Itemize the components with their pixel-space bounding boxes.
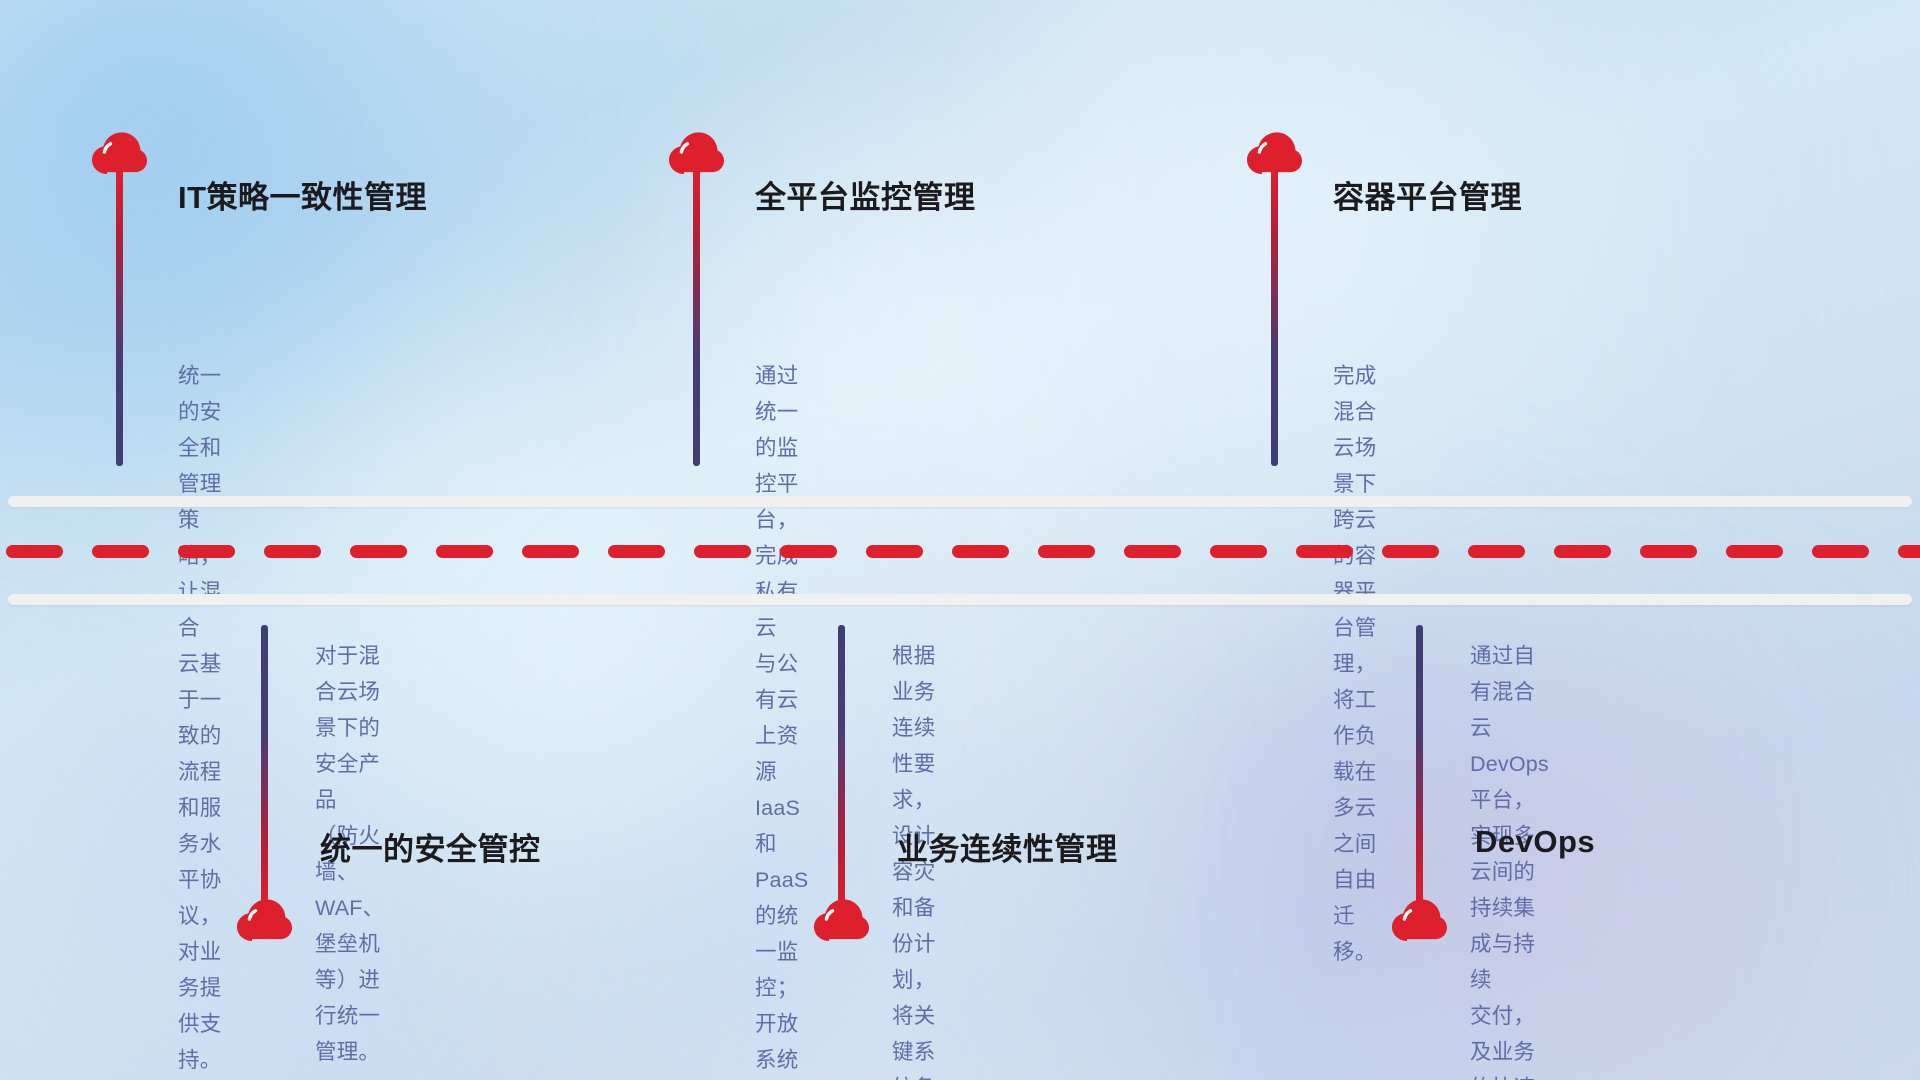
- column-title: 容器平台管理: [1333, 172, 1522, 217]
- divider-dash: [1812, 545, 1869, 558]
- divider-rail-bottom: [8, 594, 1912, 605]
- divider-dash: [1210, 545, 1267, 558]
- divider-dash: [522, 545, 579, 558]
- column-stem: [838, 625, 845, 908]
- divider-dash: [264, 545, 321, 558]
- divider-dash: [1554, 545, 1611, 558]
- divider-dash: [1898, 545, 1920, 558]
- divider-dash: [780, 545, 837, 558]
- cloud-icon: [1388, 895, 1450, 943]
- divider-dash: [694, 545, 751, 558]
- divider-dash: [866, 545, 923, 558]
- column-stem: [116, 166, 123, 466]
- divider-dash: [1468, 545, 1525, 558]
- divider-dash: [1296, 545, 1353, 558]
- column-title: 全平台监控管理: [755, 172, 976, 217]
- divider-dash: [1382, 545, 1439, 558]
- column-title: DevOps: [1475, 824, 1595, 860]
- column-title: 业务连续性管理: [897, 824, 1118, 869]
- divider-dash: [952, 545, 1009, 558]
- divider-dash: [178, 545, 235, 558]
- cloud-icon: [233, 895, 295, 943]
- column-body: 完成混合云场景下跨云的容器平 台管理，将工作负载在多云之间 自由迁移。: [1333, 358, 1376, 970]
- divider-dash: [1640, 545, 1697, 558]
- column-stem: [1271, 166, 1278, 466]
- cloud-icon: [810, 895, 872, 943]
- divider-dashes: [0, 544, 1920, 558]
- divider-dash: [1726, 545, 1783, 558]
- column-stem: [261, 625, 268, 908]
- column-title: 统一的安全管控: [320, 824, 541, 869]
- column-body: 通过统一的监控平台，完成私有云 与公有云上资源IaaS和PaaS的统 一监控；开…: [755, 358, 808, 1080]
- column-title: IT策略一致性管理: [178, 172, 427, 217]
- column-stem: [1416, 625, 1423, 908]
- column-stem: [693, 166, 700, 466]
- divider-rail-top: [8, 496, 1912, 507]
- divider-dash: [6, 545, 63, 558]
- divider-dash: [1038, 545, 1095, 558]
- divider-dash: [608, 545, 665, 558]
- divider-dash: [436, 545, 493, 558]
- column-body: 统一的安全和管理策略，让混合 云基于一致的流程和服务水平协 议，对业务提供支持。: [178, 358, 221, 1078]
- infographic-canvas: IT策略一致性管理 统一的安全和管理策略，让混合 云基于一致的流程和服务水平协 …: [0, 0, 1920, 1080]
- divider-dash: [350, 545, 407, 558]
- divider-dash: [92, 545, 149, 558]
- divider-dash: [1124, 545, 1181, 558]
